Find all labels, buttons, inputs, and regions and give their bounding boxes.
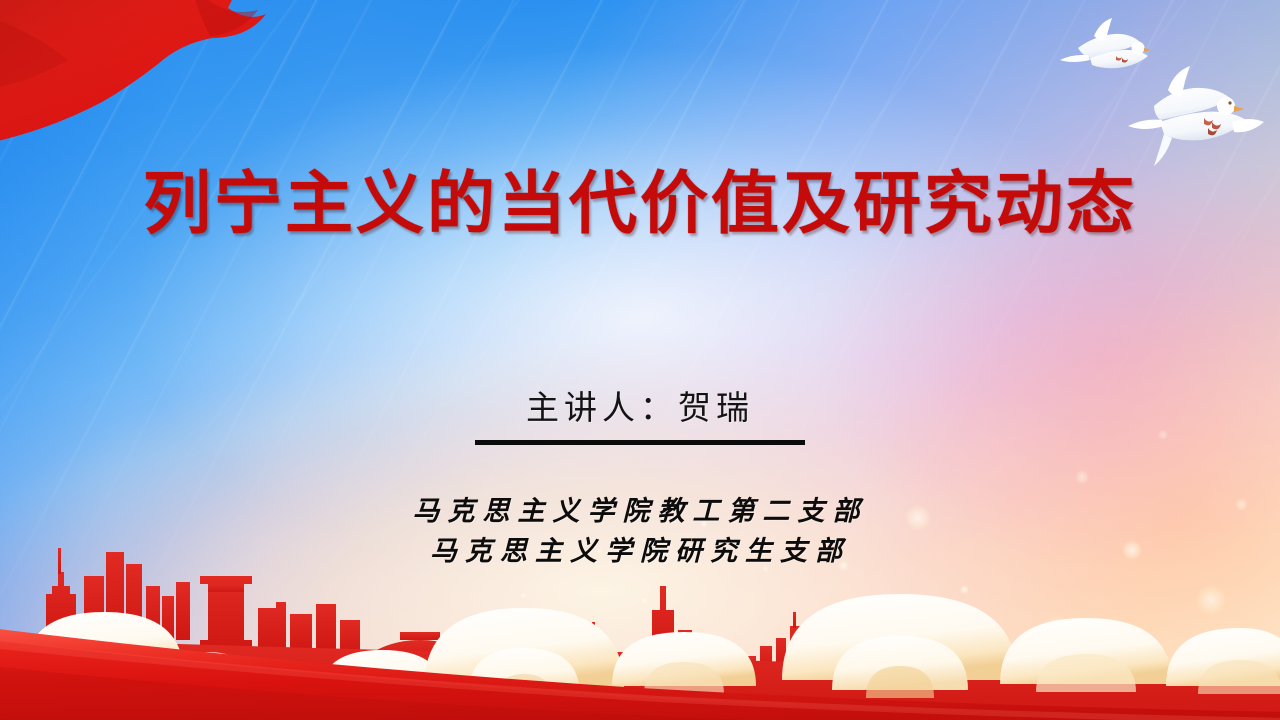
presentation-slide: 列宁主义的当代价值及研究动态 主讲人：贺瑞 马克思主义学院教工第二支部 马克思主… [0, 0, 1280, 720]
organization-line-1: 马克思主义学院教工第二支部 [0, 492, 1280, 532]
slide-text-layer: 列宁主义的当代价值及研究动态 主讲人：贺瑞 马克思主义学院教工第二支部 马克思主… [0, 0, 1280, 720]
presenter-block: 主讲人：贺瑞 [0, 386, 1280, 445]
presenter-name: 主讲人：贺瑞 [514, 386, 766, 436]
page-title: 列宁主义的当代价值及研究动态 [0, 168, 1280, 242]
organization-block: 马克思主义学院教工第二支部 马克思主义学院研究生支部 [0, 492, 1280, 572]
organization-line-2: 马克思主义学院研究生支部 [0, 532, 1280, 572]
presenter-underline [475, 440, 805, 445]
